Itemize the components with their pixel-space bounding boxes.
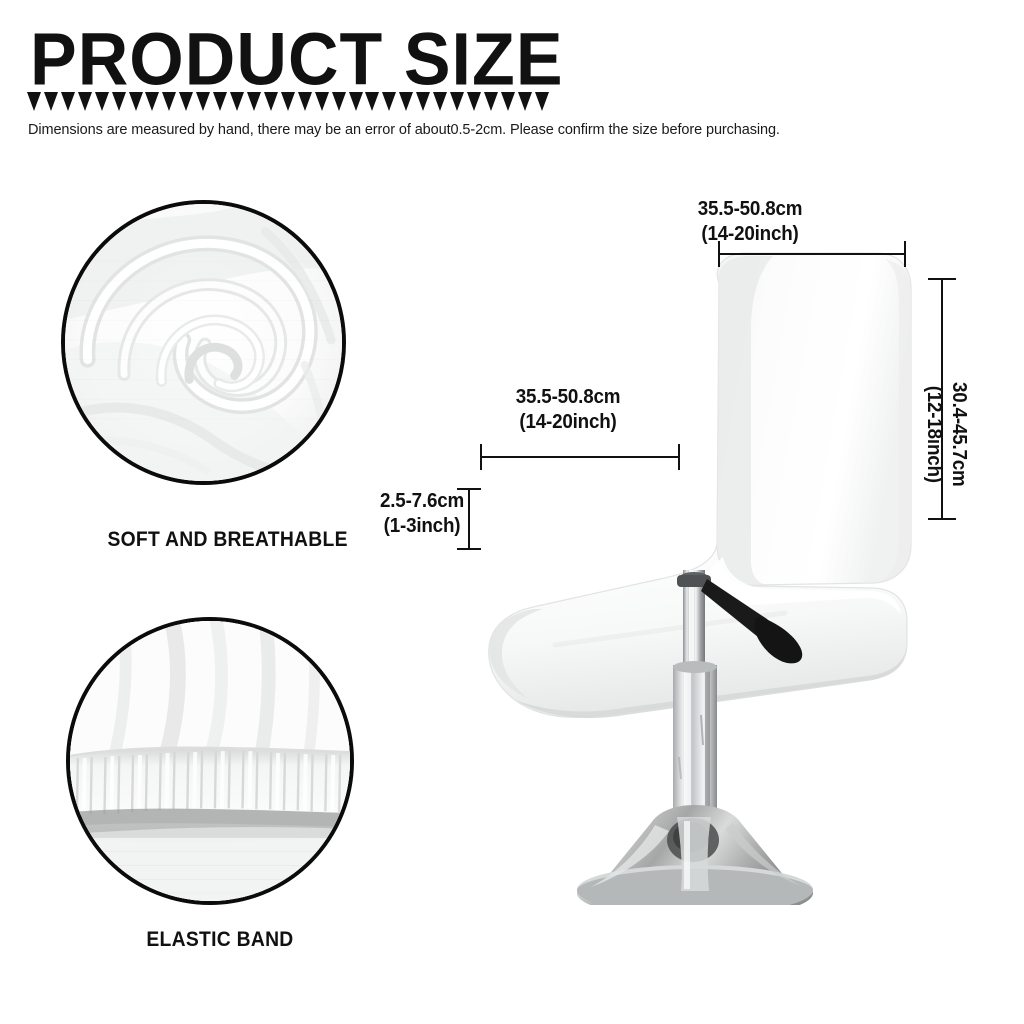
dimension-value-cm: 30.4-45.7cm [948,382,970,487]
triangle-marker [61,92,75,111]
dimension-cap-right [678,444,680,470]
elastic-band-illustration [68,619,352,903]
dimension-value-inch: (14-20inch) [701,223,798,245]
dimension-line-backrest-width [718,253,906,255]
triangle-marker [129,92,143,111]
triangle-marker [332,92,346,111]
dimension-value-cm: 35.5-50.8cm [516,386,621,408]
dimension-cap-left [480,444,482,470]
triangle-marker [484,92,498,111]
dimension-cap-left [718,241,720,267]
triangle-marker [213,92,227,111]
triangle-marker [281,92,295,111]
dimension-label-backrest-height: 30.4-45.7cm (12-18inch) [921,345,971,524]
triangle-marker [162,92,176,111]
triangle-marker [78,92,92,111]
triangle-marker [44,92,58,111]
dimension-value-cm: 2.5-7.6cm [380,490,464,512]
feature-image-soft-and-breathable [61,200,346,485]
dimension-value-inch: (1-3inch) [384,515,461,537]
triangle-marker [298,92,312,111]
dimension-value-cm: 35.5-50.8cm [698,198,803,220]
dimension-value-inch: (14-20inch) [519,411,616,433]
triangle-marker [450,92,464,111]
dimension-label-seat-width: 35.5-50.8cm (14-20inch) [460,385,676,435]
dimension-cap-bottom [457,548,481,550]
triangle-marker [433,92,447,111]
dimension-line-seat-width [480,456,680,458]
feature-caption-elastic-band: ELASTIC BAND [146,928,293,952]
triangle-marker [501,92,515,111]
dimension-line-seat-thickness [468,488,470,550]
triangle-marker [399,92,413,111]
triangle-marker [315,92,329,111]
triangle-marker [467,92,481,111]
triangle-marker [112,92,126,111]
feature-image-elastic-band [66,617,354,905]
dimension-line-backrest-height [941,278,943,520]
triangle-marker [196,92,210,111]
dimension-cap-top [457,488,481,490]
chair-with-cover-drawing [455,245,955,905]
triangle-marker [95,92,109,111]
triangle-marker [179,92,193,111]
triangle-marker [264,92,278,111]
page-title: PRODUCT SIZE [30,22,564,96]
triangle-marker [416,92,430,111]
dimension-label-backrest-width: 35.5-50.8cm (14-20inch) [642,197,858,247]
triangle-marker [230,92,244,111]
triangle-marker [382,92,396,111]
product-illustration: 35.5-50.8cm (14-20inch) 30.4-45.7cm (12-… [455,245,955,905]
dimension-label-seat-thickness: 2.5-7.6cm (1-3inch) [361,489,483,539]
triangle-marker [365,92,379,111]
triangle-marker [145,92,159,111]
triangle-marker [535,92,549,111]
dimension-cap-right [904,241,906,267]
triangle-marker [247,92,261,111]
triangle-marker [518,92,532,111]
triangle-divider [27,92,549,114]
product-size-infographic: PRODUCT SIZE Dimensions are measured by … [0,0,1024,1024]
measurement-disclaimer: Dimensions are measured by hand, there m… [28,122,780,138]
dimension-cap-top [928,278,956,280]
swirled-fabric-illustration [63,202,344,483]
triangle-marker [27,92,41,111]
triangle-marker [349,92,363,111]
dimension-cap-bottom [928,518,956,520]
feature-caption-soft-and-breathable: SOFT AND BREATHABLE [107,528,347,552]
